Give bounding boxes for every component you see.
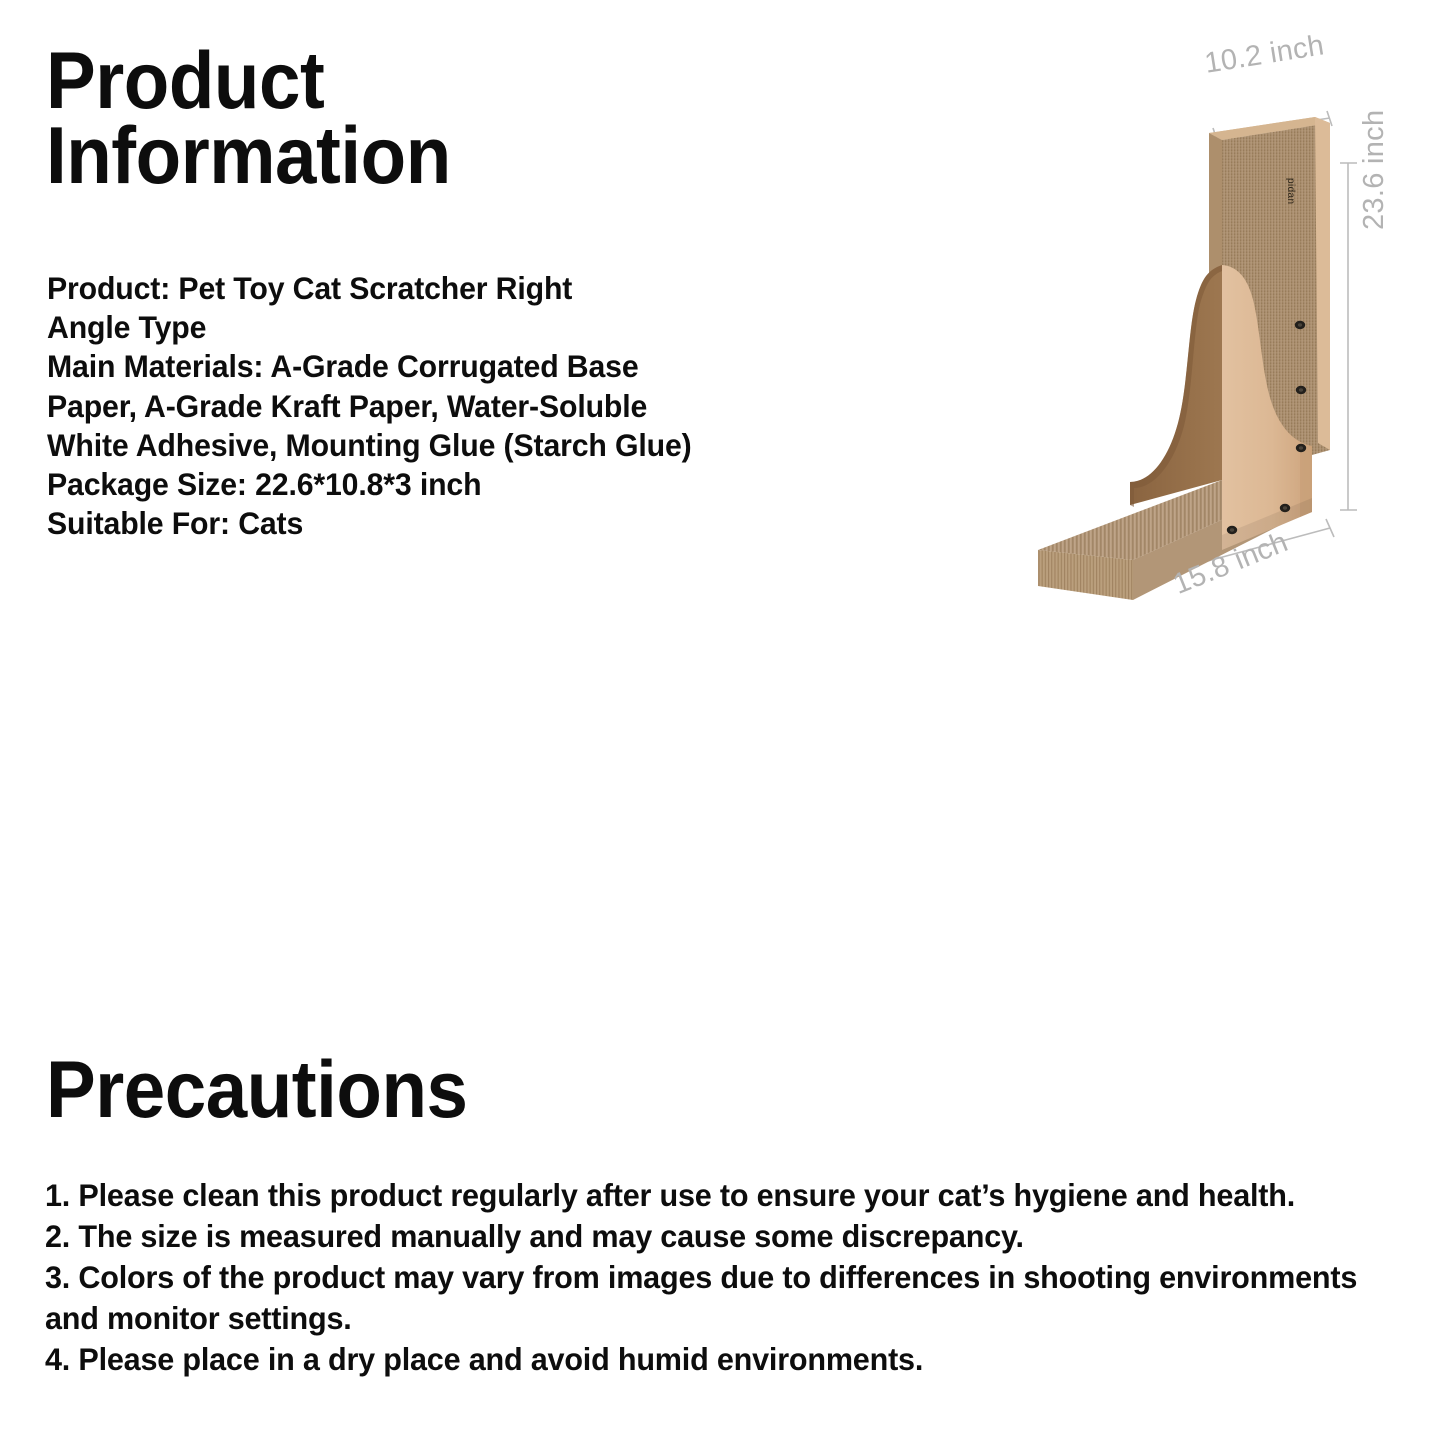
product-detail-page: Product Information Product: Pet Toy Cat… [0,0,1445,1445]
info-line-package-size: Package Size: 22.6*10.8*3 inch [47,465,825,504]
precaution-item-4: 4. Please place in a dry place and avoid… [45,1339,1364,1380]
info-line-materials-cont2: White Adhesive, Mounting Glue (Starch Gl… [47,426,825,465]
brand-mark-pidan: pidan [1285,178,1296,204]
info-line-product: Product: Pet Toy Cat Scratcher Right [47,269,825,308]
precaution-item-3: 3. Colors of the product may vary from i… [45,1257,1364,1339]
precaution-item-2: 2. The size is measured manually and may… [45,1216,1364,1257]
precautions-body: 1. Please clean this product regularly a… [45,1175,1364,1380]
info-line-materials: Main Materials: A-Grade Corrugated Base [47,347,825,386]
precaution-item-1: 1. Please clean this product regularly a… [45,1175,1364,1216]
product-information-body: Product: Pet Toy Cat Scratcher Right Ang… [47,269,825,543]
precautions-heading: Precautions [46,1053,468,1128]
product-information-heading: Product Information [46,44,451,195]
product-figure: pidan 10.2 inch 23.6 inch 15.8 inch [1000,30,1420,640]
info-line-product-cont: Angle Type [47,308,825,347]
dimension-label-height: 23.6 inch [1358,110,1391,230]
info-line-materials-cont1: Paper, A-Grade Kraft Paper, Water-Solubl… [47,387,825,426]
inner-curved-panel [1130,265,1222,505]
info-line-suitable-for: Suitable For: Cats [47,504,825,543]
cat-scratcher-illustration [1000,30,1420,640]
